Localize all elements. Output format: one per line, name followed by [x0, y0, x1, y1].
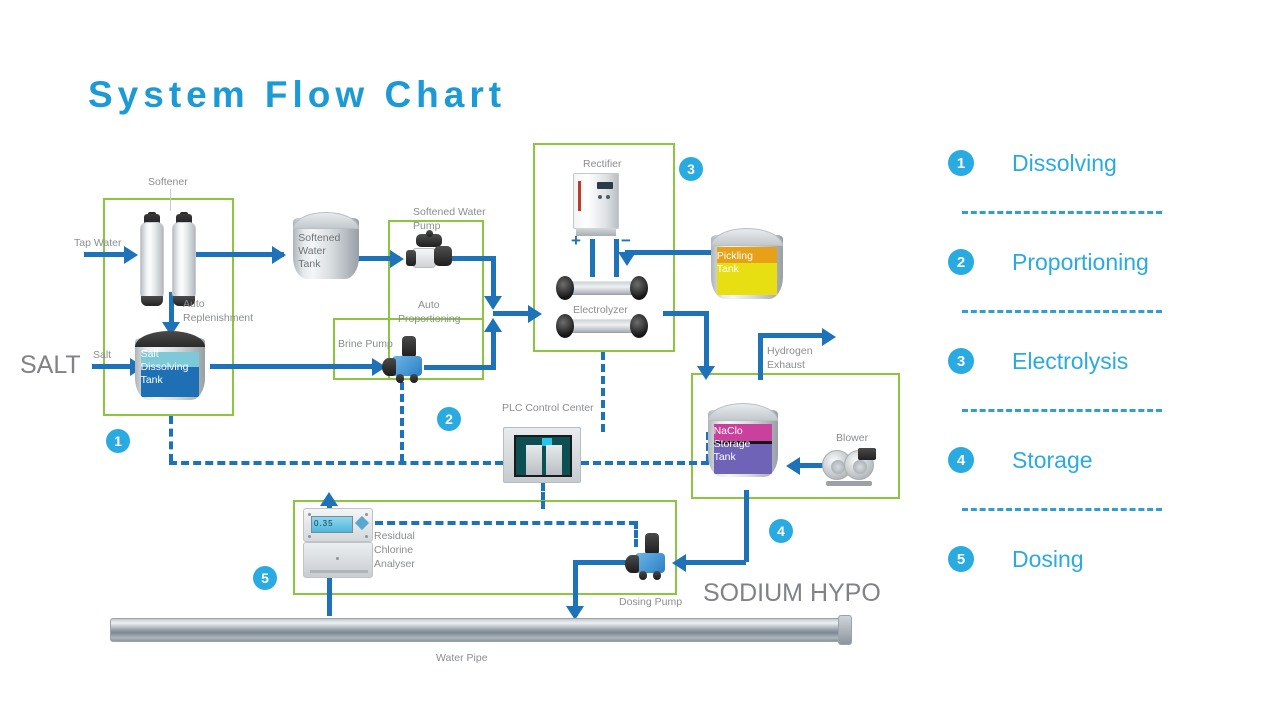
softener-caption: Softener: [148, 175, 188, 189]
blower-hub: [853, 460, 867, 474]
auto-replenishment-line-2: Replenishment: [183, 311, 253, 325]
softener-tube: [140, 222, 164, 300]
analyser-reading: 0.35: [314, 519, 334, 528]
legend-badge-4: 4: [948, 447, 974, 473]
salt-dissolving-tank: Salt Dissolving Tank: [135, 331, 205, 405]
flow-arrow-brine-pump-up: [484, 318, 502, 332]
polarity-minus-label: −: [621, 231, 631, 251]
signal-line-plc-to-storage: [581, 461, 709, 465]
legend-separator-3: [962, 409, 1162, 412]
flow-arrow-blower-out: [786, 457, 800, 475]
pickling-tank-text: Pickling Tank: [717, 250, 777, 276]
pump-foot-left: [639, 571, 647, 580]
flow-line-electrolyzer-down: [704, 311, 709, 373]
flow-arrow-to-storage: [697, 366, 715, 380]
pump-column: [402, 336, 416, 358]
softener-vessel-left: [140, 212, 164, 308]
tank-lid: [293, 212, 359, 229]
flow-line-hydrogen-exhaust-top: [758, 333, 830, 338]
blower-base: [826, 481, 872, 486]
pump-body: [392, 356, 422, 376]
flow-line-storage-down: [744, 490, 749, 562]
signal-line-plc-to-zone5: [541, 483, 545, 509]
rectifier-button-1: [598, 195, 602, 199]
legend-label-1: Dissolving: [1012, 150, 1117, 177]
signal-line-brine-pump-to-bus: [400, 382, 404, 462]
electrolyzer-barrel: [570, 281, 634, 295]
electrolyzer-barrel: [570, 319, 634, 333]
tank-lid: [711, 228, 783, 246]
analyser-knob[interactable]: [355, 516, 369, 530]
pump-column: [645, 533, 659, 555]
analyser-caption-line-1: Residual: [374, 529, 415, 543]
legend-separator-4: [962, 508, 1162, 511]
flow-line-pickling-to-electrolyzer: [625, 250, 713, 255]
blower-label: Blower: [836, 431, 868, 445]
flow-line-brine-out: [210, 364, 378, 369]
legend-label-5: Dosing: [1012, 546, 1084, 573]
analyser-caption-line-2: Chlorine: [374, 543, 413, 557]
flow-arrow-hydrogen-exhaust: [822, 328, 836, 346]
legend-separator-2: [962, 310, 1162, 313]
legend: 1 Dissolving 2 Proportioning 3 Electroly…: [948, 140, 1248, 582]
pump-head: [382, 358, 396, 376]
plc-module-2: [546, 445, 562, 475]
softener-vessel-right: [172, 212, 196, 308]
flow-arrow-tap-water: [124, 246, 138, 264]
electrolyzer-flange-right: [630, 314, 648, 338]
legend-badge-3: 3: [948, 348, 974, 374]
rectifier-button-2: [606, 195, 610, 199]
tank-lid: [708, 403, 778, 421]
legend-label-3: Electrolysis: [1012, 348, 1128, 375]
analyser-screw: [365, 535, 368, 538]
flow-line-softener-out: [196, 252, 284, 257]
zone-badge-1: 1: [106, 429, 130, 453]
pump-foot-right: [653, 571, 661, 580]
brine-pump: [382, 336, 430, 384]
auto-proportioning-line-1: Auto: [418, 298, 440, 312]
electrolyzer-flange-left: [556, 314, 574, 338]
rectifier-display: [597, 182, 613, 189]
softened-water-pump-line-1: Softened Water: [413, 205, 486, 219]
pump-body: [635, 553, 665, 573]
flow-arrow-sample-up: [320, 492, 338, 506]
blower-unit: [822, 448, 880, 484]
flow-line-brine-pump-up: [491, 326, 496, 368]
rectifier-base: [576, 228, 616, 236]
analyser-screw: [308, 535, 311, 538]
softened-water-tank: Softened Water Tank: [293, 212, 359, 284]
water-pipe-end-cap: [838, 615, 852, 645]
salt-inlet-label: Salt: [93, 348, 111, 362]
legend-item-electrolysis[interactable]: 3 Electrolysis: [948, 338, 1248, 384]
signal-line-zone1-to-plc: [169, 461, 503, 465]
softened-water-tank-text: Softened Water Tank: [298, 232, 353, 271]
rectifier-unit: [573, 173, 619, 237]
rectifier-stripe: [578, 181, 581, 211]
softener-foot: [141, 296, 163, 306]
residual-chlorine-analyser: 0.35: [303, 508, 373, 578]
pump-head: [406, 250, 416, 266]
zone-badge-5: 5: [253, 566, 277, 590]
naclo-storage-tank-text: NaClo Storage Tank: [714, 425, 773, 464]
blower-motor: [858, 448, 876, 460]
zone-badge-4: 4: [769, 519, 793, 543]
salt-dissolving-tank-text: Salt Dissolving Tank: [141, 348, 200, 387]
flow-line-tap-water: [84, 252, 126, 257]
legend-item-dissolving[interactable]: 1 Dissolving: [948, 140, 1248, 186]
flow-line-hydrogen-exhaust: [758, 338, 763, 380]
plc-control-center: [503, 427, 581, 483]
legend-item-dosing[interactable]: 5 Dosing: [948, 536, 1248, 582]
analyser-screw: [308, 513, 311, 516]
zone-badge-3: 3: [679, 157, 703, 181]
plc-control-center-label: PLC Control Center: [502, 401, 594, 415]
naclo-storage-tank: NaClo Storage Tank: [708, 403, 778, 483]
analyser-screw: [365, 513, 368, 516]
legend-label-4: Storage: [1012, 447, 1093, 474]
softener-tube: [172, 222, 196, 300]
analyser-vent: [310, 570, 368, 573]
electrolyzer-tube-lower: [556, 314, 648, 338]
sodium-hypo-output-label: SODIUM HYPO: [703, 579, 881, 608]
legend-badge-1: 1: [948, 150, 974, 176]
electrolyzer-flange-left: [556, 276, 574, 300]
flow-arrow-softener-out: [272, 246, 286, 264]
flow-line-electrolyzer-out: [663, 311, 707, 316]
auto-proportioning-line-2: Proportioning: [398, 312, 460, 326]
page-title: System Flow Chart: [88, 74, 506, 116]
legend-item-proportioning[interactable]: 2 Proportioning: [948, 239, 1248, 285]
zone-badge-2: 2: [437, 407, 461, 431]
pump-valve: [426, 230, 433, 237]
flow-arrow-pump-down: [484, 296, 502, 310]
legend-label-2: Proportioning: [1012, 249, 1149, 276]
signal-line-electrolyzer-to-plc: [601, 352, 605, 432]
water-pipe: [110, 618, 850, 642]
flow-line-brine-pump-out: [424, 365, 496, 370]
electrolyzer-tube-upper: [556, 276, 648, 300]
legend-item-storage[interactable]: 4 Storage: [948, 437, 1248, 483]
analyser-screw: [336, 557, 339, 560]
signal-line-analyser-to-dosing: [375, 521, 637, 525]
tap-water-label: Tap Water: [74, 236, 121, 250]
water-pipe-label: Water Pipe: [436, 651, 488, 665]
flow-arrow-to-dosing-pump: [672, 554, 686, 572]
tank-lid: [135, 331, 205, 347]
hydrogen-exhaust-line-2: Exhaust: [767, 358, 805, 372]
flow-arrow-softened-water-to-pump: [390, 250, 404, 268]
rectifier-label: Rectifier: [583, 157, 622, 171]
pump-head: [625, 555, 639, 573]
flow-line-storage-to-dosing: [686, 560, 746, 565]
salt-input-label: SALT: [20, 351, 81, 380]
legend-badge-5: 5: [948, 546, 974, 572]
flow-arrow-pickling-down: [618, 252, 636, 266]
pump-motor: [434, 246, 452, 266]
electrolyzer-flange-right: [630, 276, 648, 300]
pump-foot-left: [396, 374, 404, 383]
pickling-tank: Pickling Tank: [711, 228, 783, 304]
flow-chart-canvas: System Flow Chart SALT SODIUM HYPO + −: [0, 0, 1280, 720]
dosing-pump-label: Dosing Pump: [619, 595, 682, 609]
analyser-display: 0.35: [311, 516, 353, 533]
plc-module-1: [526, 445, 542, 475]
flow-line-dosing-out: [573, 560, 627, 565]
blower-hub: [831, 460, 845, 474]
legend-badge-2: 2: [948, 249, 974, 275]
plc-screen: [514, 435, 572, 477]
signal-line-zone1-down: [169, 416, 173, 462]
analyser-lower-housing: [303, 542, 373, 578]
flow-arrow-to-electrolyzer: [528, 305, 542, 323]
dosing-pump: [625, 533, 673, 581]
auto-replenishment-line-1: Auto: [183, 297, 205, 311]
analyser-upper-housing: 0.35: [303, 508, 373, 542]
pump-foot-right: [410, 374, 418, 383]
softened-water-pump: [406, 234, 454, 274]
legend-separator-1: [962, 211, 1162, 214]
flow-line-rectifier-positive: [590, 239, 595, 277]
softener-leader-line: [170, 189, 171, 211]
flow-line-salt-in: [92, 364, 134, 369]
analyser-caption-line-3: Analyser: [374, 557, 415, 571]
hydrogen-exhaust-line-1: Hydrogen: [767, 344, 813, 358]
